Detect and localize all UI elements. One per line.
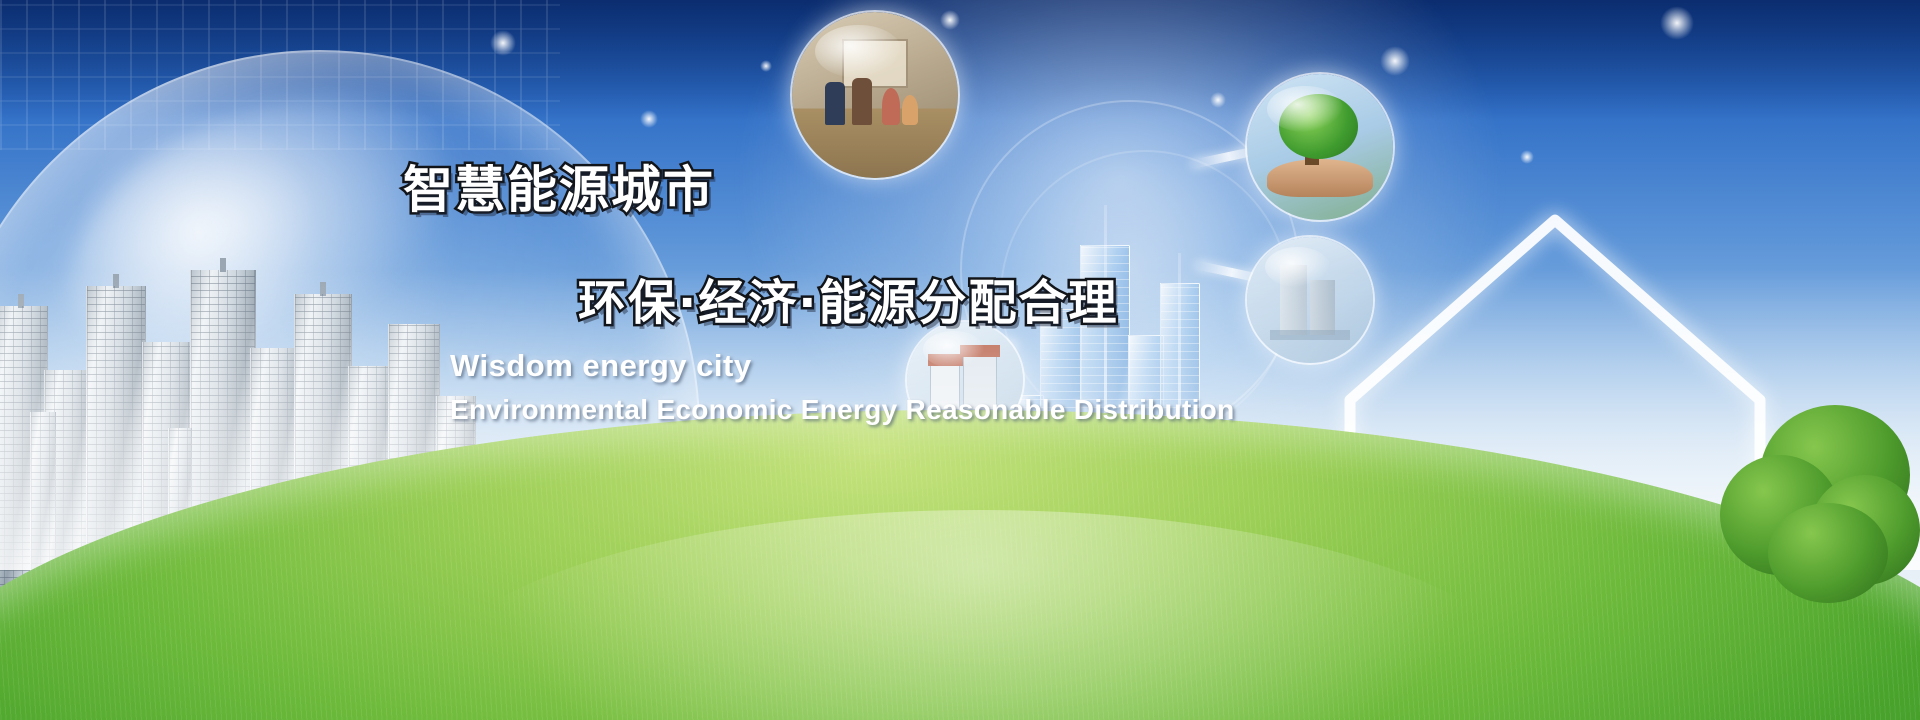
subheadline-english: Environmental Economic Energy Reasonable… (450, 394, 1235, 426)
headline-chinese: 智慧能源城市 (403, 150, 715, 222)
banner-copy: 智慧能源城市 环保·经济·能源分配合理 Wisdom energy city E… (0, 0, 1920, 720)
subheadline-chinese: 环保·经济·能源分配合理 (578, 263, 1118, 333)
banner-hero: 智慧能源城市 环保·经济·能源分配合理 Wisdom energy city E… (0, 0, 1920, 720)
headline-english: Wisdom energy city (450, 348, 752, 384)
subheadline-chinese-text: 环保·经济·能源分配合理 (578, 275, 1118, 331)
headline-chinese-text: 智慧能源城市 (403, 161, 715, 219)
